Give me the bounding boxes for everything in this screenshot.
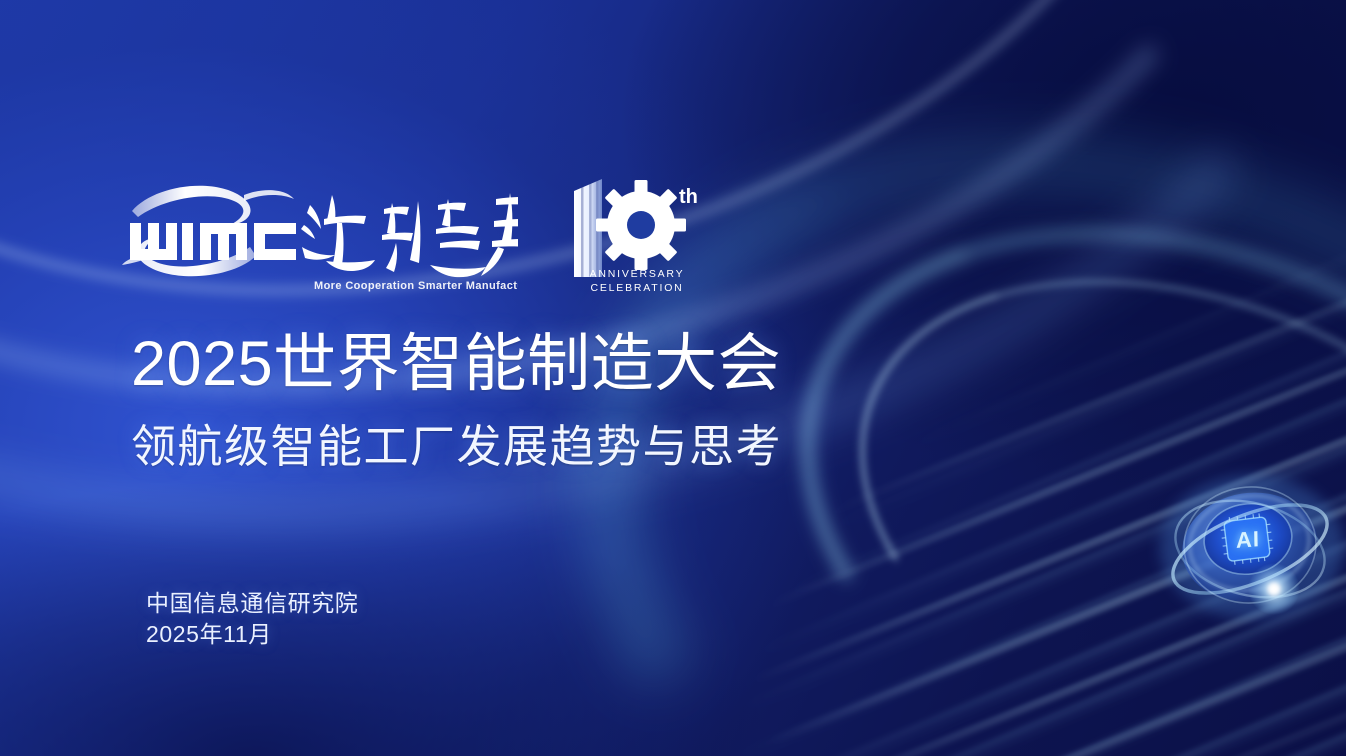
- slide-footer: 中国信息通信研究院 2025年11月: [146, 588, 358, 649]
- footer-date: 2025年11月: [146, 619, 358, 650]
- wimc-conference-logo: More Cooperation Smarter Manufacturing: [118, 173, 518, 299]
- anniversary-ordinal: th: [679, 186, 698, 208]
- logo-row: More Cooperation Smarter Manufacturing: [118, 172, 712, 300]
- anniversary-line2: CELEBRATION: [590, 282, 683, 294]
- slide-subtitle: 领航级智能工厂发展趋势与思考: [131, 422, 782, 472]
- ai-sphere-flare-core: [1268, 583, 1280, 595]
- anniversary-logo: th ANNIVERSARY CELEBRATION: [562, 173, 712, 299]
- slide-title: 2025世界智能制造大会: [131, 330, 781, 398]
- wimc-slogan-english: More Cooperation Smarter Manufacturing: [314, 280, 518, 292]
- anniversary-gear-icon: [596, 180, 686, 270]
- wimc-slogan-calligraphy: [301, 193, 518, 277]
- anniversary-line1: ANNIVERSARY: [590, 268, 685, 280]
- ai-sphere-graphic: AI: [1152, 455, 1346, 630]
- background-swoosh-right-mid: [719, 123, 1346, 756]
- wimc-wordmark: [130, 223, 296, 260]
- footer-organization: 中国信息通信研究院: [146, 588, 358, 619]
- title-slide: More Cooperation Smarter Manufacturing: [0, 0, 1346, 756]
